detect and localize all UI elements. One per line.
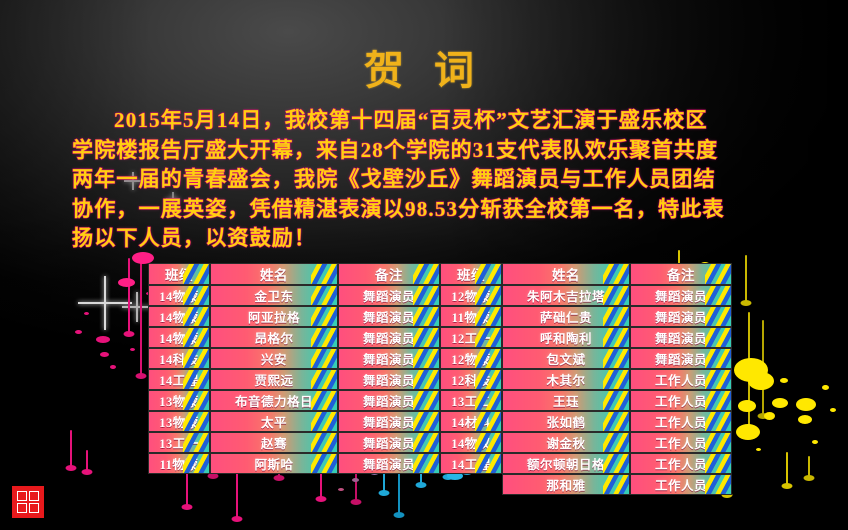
roster-cell-right-name: 那和雅 — [502, 474, 630, 495]
roster-cell-right-name: 王珏 — [502, 390, 630, 411]
sparkle-star-icon — [78, 276, 132, 330]
roster-cell-left-note: 舞蹈演员 — [338, 369, 440, 390]
page-title: 贺 词 — [0, 38, 848, 96]
roster-cell-left-name: 阿斯哈 — [210, 453, 338, 474]
slide-canvas: 贺 词 2015年5月14日，我校第十四届“百灵杯”文艺汇演于盛乐校区 学院楼报… — [0, 0, 848, 530]
roster-cell-left-class: 13物蒙 — [148, 390, 210, 411]
roster-header-left-class: 班级 — [148, 263, 210, 285]
roster-header-right-note: 备注 — [630, 263, 732, 285]
roster-cell-left-name: 赵骞 — [210, 432, 338, 453]
paint-drip — [786, 452, 788, 486]
seal-char-1 — [17, 491, 27, 501]
paint-blob — [830, 408, 836, 412]
paint-blob — [84, 312, 89, 315]
paint-blob — [118, 278, 135, 287]
roster-header-left-note: 备注 — [338, 263, 440, 285]
paint-blob — [780, 378, 788, 383]
paint-blob — [756, 448, 761, 451]
roster-cell-left-name: 阿亚拉格 — [210, 306, 338, 327]
paint-drip — [762, 320, 764, 416]
roster-row: 11物蒙阿斯哈舞蹈演员14工程额尔顿朝日格工作人员 — [148, 453, 732, 474]
roster-cell-left-name: 太平 — [210, 411, 338, 432]
roster-row: 13物蒙太平舞蹈演员14材料张如鹤工作人员 — [148, 411, 732, 432]
roster-cell-right-class: 12物蒙 — [440, 285, 502, 306]
roster-cell-right-class: 12科技 — [440, 369, 502, 390]
roster-cell-right-name: 呼和陶利 — [502, 327, 630, 348]
official-seal-stamp — [13, 487, 43, 517]
roster-cell-left-note: 舞蹈演员 — [338, 348, 440, 369]
roster-row: 14物蒙阿亚拉格舞蹈演员11物蒙萨础仁贵舞蹈演员 — [148, 306, 732, 327]
roster-cell-left-class: 13物蒙 — [148, 411, 210, 432]
paint-blob — [812, 440, 818, 444]
roster-cell-left-class: 14科技 — [148, 348, 210, 369]
paint-blob — [734, 358, 768, 382]
paint-blob — [96, 336, 110, 343]
paint-blob — [130, 348, 135, 351]
paint-drip — [128, 258, 130, 334]
roster-cell-right-note: 舞蹈演员 — [630, 285, 732, 306]
roster-cell-left-name: 金卫东 — [210, 285, 338, 306]
congratulation-body: 2015年5月14日，我校第十四届“百灵杯”文艺汇演于盛乐校区 学院楼报告厅盛大… — [72, 106, 782, 254]
roster-cell-right-class: 14材料 — [440, 411, 502, 432]
seal-char-4 — [29, 503, 39, 513]
roster-cell-right-class: 12物蒙 — [440, 348, 502, 369]
roster-cell-right-name: 包文斌 — [502, 348, 630, 369]
roster-row: 14物蒙昂格尔舞蹈演员12工一呼和陶利舞蹈演员 — [148, 327, 732, 348]
body-line-5: 扬以下人员，以资鼓励！ — [72, 224, 782, 254]
roster-cell-left-note: 舞蹈演员 — [338, 432, 440, 453]
roster-header-right-class: 班级 — [440, 263, 502, 285]
paint-blob — [764, 412, 775, 420]
roster-cell-right-name: 木其尔 — [502, 369, 630, 390]
roster-table-body: 班级姓名备注班级姓名备注14物蒙金卫东舞蹈演员12物蒙朱阿木吉拉塔舞蹈演员14物… — [148, 263, 732, 495]
roster-cell-left-class: 14物蒙 — [148, 285, 210, 306]
roster-row: 那和雅工作人员 — [148, 474, 732, 495]
paint-blob — [822, 385, 829, 390]
paint-blob — [748, 372, 774, 390]
roster-cell-left-note: 舞蹈演员 — [338, 306, 440, 327]
body-line-2: 学院楼报告厅盛大开幕，来自28个学院的31支代表队欢乐聚首共度 — [72, 136, 782, 166]
roster-cell-left-class: 14物蒙 — [148, 306, 210, 327]
roster-cell-left-name: 贾熙远 — [210, 369, 338, 390]
roster-cell-right-note: 舞蹈演员 — [630, 327, 732, 348]
roster-cell-right-note: 工作人员 — [630, 390, 732, 411]
paint-blob — [736, 424, 760, 440]
paint-blob — [738, 400, 756, 412]
roster-header-right-name: 姓名 — [502, 263, 630, 285]
roster-table: 班级姓名备注班级姓名备注14物蒙金卫东舞蹈演员12物蒙朱阿木吉拉塔舞蹈演员14物… — [148, 263, 732, 495]
roster-cell-right-class — [440, 474, 502, 495]
roster-cell-right-name: 萨础仁贵 — [502, 306, 630, 327]
roster-cell-right-name: 张如鹤 — [502, 411, 630, 432]
roster-cell-left-name — [210, 474, 338, 495]
body-line-3: 两年一届的青春盛会，我院《戈壁沙丘》舞蹈演员与工作人员团结 — [72, 165, 782, 195]
roster-cell-left-class — [148, 474, 210, 495]
roster-cell-left-note: 舞蹈演员 — [338, 411, 440, 432]
roster-row: 14科技兴安舞蹈演员12物蒙包文斌舞蹈演员 — [148, 348, 732, 369]
roster-cell-right-note: 工作人员 — [630, 411, 732, 432]
roster-cell-left-name: 昂格尔 — [210, 327, 338, 348]
paint-blob — [772, 398, 788, 408]
roster-cell-right-note: 工作人员 — [630, 432, 732, 453]
roster-header-left-name: 姓名 — [210, 263, 338, 285]
paint-blob — [100, 352, 109, 357]
roster-cell-right-note: 工作人员 — [630, 453, 732, 474]
roster-cell-right-name: 额尔顿朝日格 — [502, 453, 630, 474]
roster-cell-right-note: 舞蹈演员 — [630, 306, 732, 327]
roster-cell-right-class: 14物汉 — [440, 432, 502, 453]
roster-cell-left-class: 11物蒙 — [148, 453, 210, 474]
roster-cell-right-class: 14工程 — [440, 453, 502, 474]
roster-row: 14物蒙金卫东舞蹈演员12物蒙朱阿木吉拉塔舞蹈演员 — [148, 285, 732, 306]
paint-blob — [110, 365, 116, 369]
roster-header-row: 班级姓名备注班级姓名备注 — [148, 263, 732, 285]
roster-cell-left-note — [338, 474, 440, 495]
roster-cell-right-note: 工作人员 — [630, 474, 732, 495]
paint-drip — [140, 258, 142, 376]
roster-cell-right-note: 工作人员 — [630, 369, 732, 390]
body-line-4: 协作，一展英姿，凭借精湛表演以98.53分斩获全校第一名，特此表 — [72, 195, 782, 225]
paint-drip — [748, 312, 750, 432]
paint-drip — [808, 456, 810, 478]
roster-cell-right-name: 谢金秋 — [502, 432, 630, 453]
roster-cell-left-class: 14工程 — [148, 369, 210, 390]
roster-cell-left-note: 舞蹈演员 — [338, 285, 440, 306]
roster-cell-right-class: 12工一 — [440, 327, 502, 348]
paint-blob — [798, 415, 812, 424]
roster-cell-left-note: 舞蹈演员 — [338, 390, 440, 411]
roster-cell-left-note: 舞蹈演员 — [338, 453, 440, 474]
roster-row: 13工一赵骞舞蹈演员14物汉谢金秋工作人员 — [148, 432, 732, 453]
roster-cell-right-class: 11物蒙 — [440, 306, 502, 327]
roster-cell-left-class: 14物蒙 — [148, 327, 210, 348]
roster-cell-left-name: 兴安 — [210, 348, 338, 369]
roster-cell-left-class: 13工一 — [148, 432, 210, 453]
roster-cell-right-class: 13工二 — [440, 390, 502, 411]
roster-cell-left-name: 布音德力格日 — [210, 390, 338, 411]
paint-blob — [796, 398, 816, 411]
seal-char-2 — [29, 491, 39, 501]
paint-drip — [86, 450, 88, 472]
seal-char-3 — [17, 503, 27, 513]
paint-drip — [70, 430, 72, 468]
paint-blob — [75, 330, 82, 334]
roster-row: 13物蒙布音德力格日舞蹈演员13工二王珏工作人员 — [148, 390, 732, 411]
roster-cell-right-note: 舞蹈演员 — [630, 348, 732, 369]
roster-cell-right-name: 朱阿木吉拉塔 — [502, 285, 630, 306]
roster-row: 14工程贾熙远舞蹈演员12科技木其尔工作人员 — [148, 369, 732, 390]
roster-cell-left-note: 舞蹈演员 — [338, 327, 440, 348]
paint-drip — [745, 255, 747, 303]
body-line-1: 2015年5月14日，我校第十四届“百灵杯”文艺汇演于盛乐校区 — [72, 106, 782, 136]
